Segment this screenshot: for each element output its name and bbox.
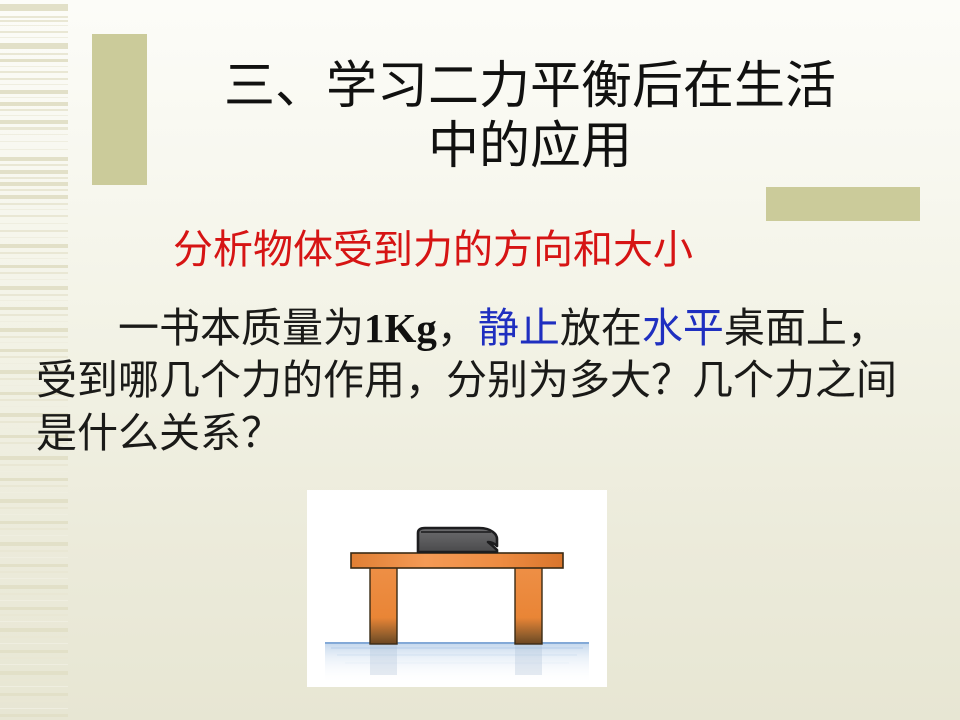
stripe-line: [0, 521, 68, 524]
stripe-line: [0, 195, 68, 199]
stripe-line: [0, 585, 68, 589]
stripe-line: [0, 550, 68, 552]
stripe-line: [0, 571, 68, 573]
stripe-line: [0, 686, 68, 687]
stripe-line: [0, 170, 68, 174]
stripe-line: [0, 628, 68, 632]
stripe-line: [0, 20, 68, 22]
stripe-line: [0, 59, 68, 62]
stripe-line: [0, 141, 68, 142]
stripe-line: [0, 542, 68, 546]
stripe-line: [0, 600, 68, 601]
stripe-line: [0, 134, 68, 135]
right-accent-block: [766, 187, 920, 221]
stripe-line: [0, 258, 68, 259]
body-comma: ，: [437, 305, 478, 351]
stripe-line: [0, 53, 68, 55]
stripe-line: [0, 16, 68, 18]
stripe-line: [0, 693, 68, 696]
stripe-line: [0, 708, 68, 709]
stripe-line: [0, 679, 68, 681]
stripe-line: [0, 300, 68, 301]
body-emphasis-static: 静止: [478, 305, 560, 351]
slide-subtitle: 分析物体受到力的方向和大小: [68, 228, 798, 273]
stripe-line: [0, 102, 68, 106]
stripe-line: [0, 557, 68, 558]
stripe-line: [0, 84, 68, 85]
stripe-line: [0, 182, 68, 186]
body-emphasis-horizontal: 水平: [642, 305, 724, 351]
book-object: [418, 528, 497, 552]
floor-group: [325, 642, 589, 684]
stripe-line: [0, 485, 68, 487]
stripe-line: [0, 700, 68, 702]
stripe-line: [0, 499, 68, 503]
stripe-line: [0, 230, 68, 232]
stripe-line: [0, 189, 68, 191]
body-line1-mid: 放在: [560, 305, 642, 351]
stripe-line: [0, 215, 68, 217]
stripe-line: [0, 237, 68, 238]
stripe-line: [0, 90, 68, 94]
stripe-line: [0, 279, 68, 280]
stripe-line: [0, 643, 68, 644]
stripe-line: [0, 471, 68, 472]
stripe-line: [0, 164, 68, 166]
stripe-line: [0, 671, 68, 675]
slide-canvas: 三、学习二力平衡后在生活 中的应用 分析物体受到力的方向和大小 一书本质量为1K…: [0, 0, 960, 720]
stripe-line: [0, 252, 68, 254]
stripe-line: [0, 4, 68, 11]
table-legs: [370, 556, 542, 644]
stripe-line: [0, 664, 68, 665]
stripe-line: [0, 657, 68, 659]
stripe-line: [0, 71, 68, 73]
stripe-line: [0, 149, 68, 150]
stripe-line: [0, 528, 68, 530]
stripe-line: [0, 120, 68, 124]
stripe-line: [0, 223, 68, 224]
stripe-line: [0, 514, 68, 515]
stripe-line: [0, 66, 68, 67]
stripe-line: [0, 97, 68, 98]
stripe-line: [0, 614, 68, 616]
stripe-line: [0, 78, 68, 80]
stripe-line: [0, 535, 68, 536]
stripe-line: [0, 31, 68, 33]
stripe-line: [0, 636, 68, 638]
stripe-line: [0, 127, 68, 130]
stripe-line: [0, 265, 68, 268]
stripe-line: [0, 593, 68, 595]
stripe-line: [0, 507, 68, 509]
stripe-line: [0, 157, 68, 161]
stripe-line: [0, 37, 68, 38]
stripe-line: [0, 607, 68, 610]
stripe-line: [0, 478, 68, 481]
stripe-line: [0, 115, 68, 116]
stripe-line: [0, 714, 68, 717]
stripe-line: [0, 286, 68, 290]
stripe-line: [0, 492, 68, 493]
stripe-line: [0, 177, 68, 179]
stripe-line: [0, 43, 68, 49]
body-line1-lead: 一书本质量为: [118, 305, 364, 351]
book-on-table-figure: [307, 490, 607, 687]
stripe-line: [0, 578, 68, 579]
body-mass-value: 1Kg: [364, 305, 437, 351]
stripe-line: [0, 621, 68, 622]
table-top: [351, 553, 563, 568]
slide-title: 三、学习二力平衡后在生活 中的应用: [120, 58, 940, 177]
stripe-line: [0, 564, 68, 567]
stripe-line: [0, 464, 68, 466]
stripe-line: [0, 25, 68, 26]
body-paragraph: 一书本质量为1Kg，静止放在水平桌面上，受到哪几个力的作用，分别为多大？几个力之…: [36, 302, 926, 459]
stripe-line: [0, 109, 68, 111]
stripe-line: [0, 203, 68, 205]
stripe-line: [0, 294, 68, 296]
stripe-line: [0, 650, 68, 653]
stripe-line: [0, 272, 68, 274]
stripe-line: [0, 209, 68, 210]
stripe-line: [0, 244, 68, 248]
